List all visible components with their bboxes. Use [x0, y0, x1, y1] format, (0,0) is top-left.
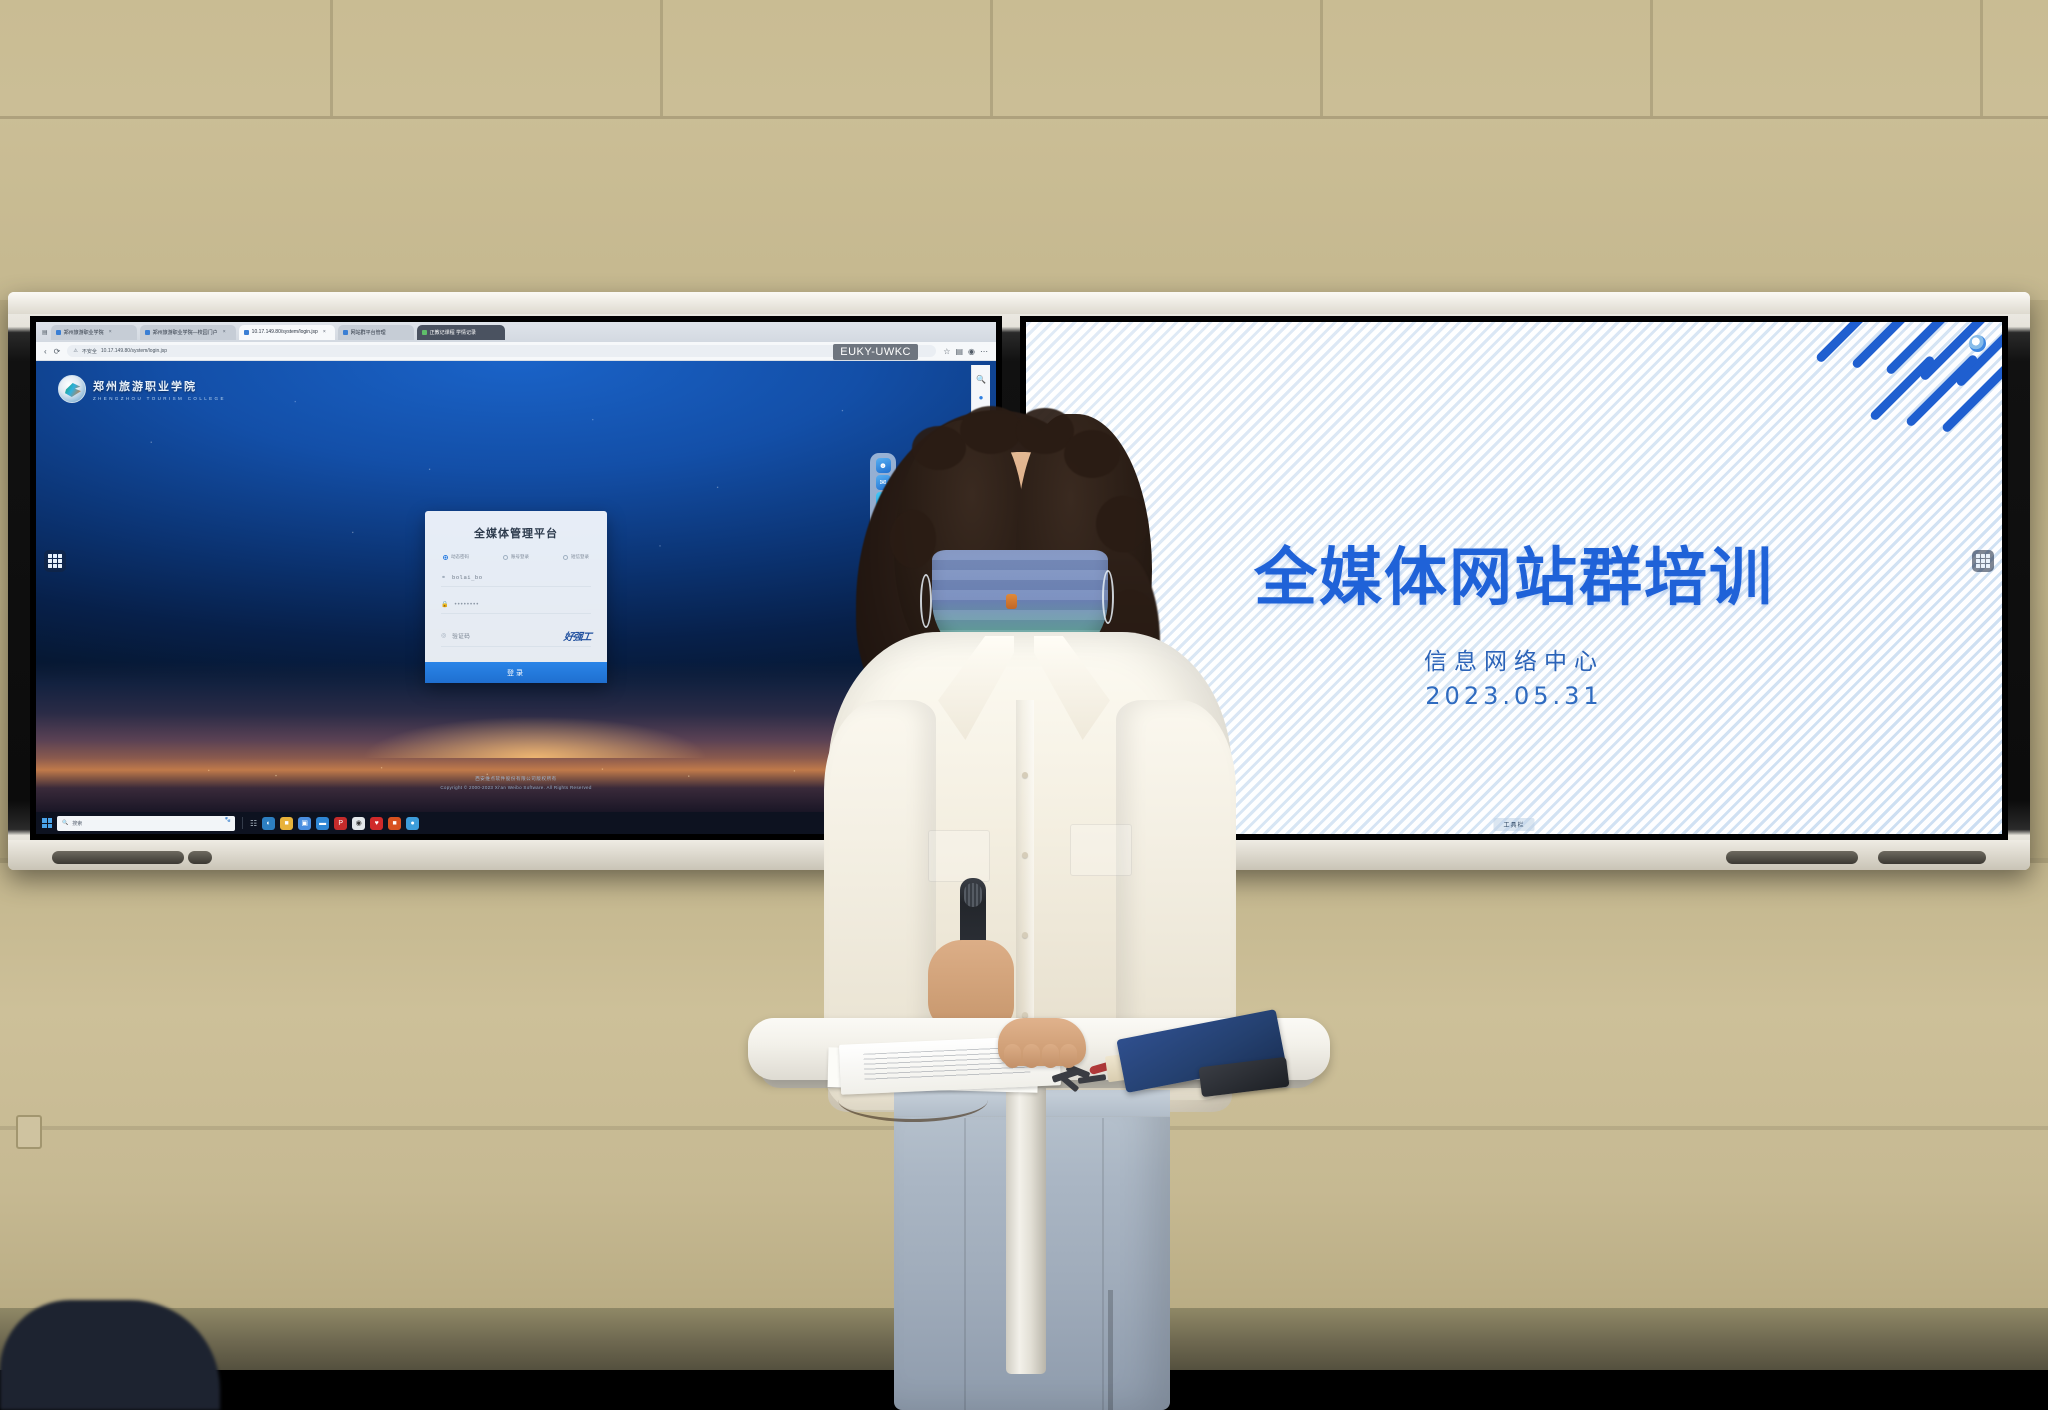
search-placeholder: 搜索 [72, 820, 82, 827]
hand-on-podium [998, 1018, 1086, 1066]
username-field[interactable]: ⚭ bolai_bo [441, 574, 591, 587]
wall-upper [0, 0, 2048, 300]
shield-icon: ◎ [441, 632, 446, 639]
mask-ear-loop [920, 574, 932, 628]
app-icon[interactable]: ● [406, 817, 419, 830]
mask-emblem-icon [1006, 594, 1017, 609]
college-name-en: ZHENGZHOU TOURISM COLLEGE [93, 396, 226, 401]
tab-close-icon[interactable]: × [323, 329, 326, 335]
url-omnibox[interactable]: ⚠ 不安全 10.17.149.80/system/login.jsp [67, 345, 936, 357]
radio-icon[interactable] [503, 555, 508, 560]
login-mode-label: 账号登录 [511, 554, 529, 560]
wall-outlet [16, 1115, 42, 1149]
tab-label: 正教记课程 学情记录 [430, 329, 476, 336]
podium-post [1006, 1084, 1046, 1374]
tab-label: 网站群平台管理 [351, 329, 386, 336]
more-settings-icon[interactable]: ⋯ [980, 347, 988, 356]
captcha-label: 验证码 [452, 632, 470, 640]
speaker-grille [1726, 851, 1858, 864]
bookmark-star-icon[interactable]: ☆ [943, 347, 950, 356]
radio-icon[interactable] [563, 555, 568, 560]
tab-favicon [343, 330, 348, 335]
browser-tab-highlighted[interactable]: 正教记课程 学情记录 [417, 325, 505, 340]
folder-icon[interactable]: ▬ [316, 817, 329, 830]
chrome-icon[interactable]: ◉ [352, 817, 365, 830]
login-button[interactable]: 登录 [425, 662, 607, 683]
browser-tab[interactable]: 郑州旅游职业学院 × [51, 325, 137, 340]
heart-icon[interactable]: ♥ [370, 817, 383, 830]
mask-ear-loop [1102, 570, 1114, 624]
search-decoration-icon: 🐾 [225, 817, 231, 823]
login-mode-group[interactable]: 动态密码 账号登录 短信登录 [441, 554, 591, 560]
security-label: 不安全 [82, 348, 97, 355]
speaker-grille [52, 851, 184, 864]
explorer-icon[interactable]: ■ [280, 817, 293, 830]
grid-handle-icon[interactable] [1972, 550, 1994, 572]
browser-tabstrip[interactable]: ▤ 郑州旅游职业学院 × 郑州旅游职业学院—校园门户 × 10.17.149.8… [36, 322, 996, 342]
reload-icon[interactable]: ⟳ [54, 347, 61, 356]
grid-handle-icon[interactable] [44, 550, 66, 572]
tab-list-icon[interactable]: ▤ [42, 329, 48, 336]
login-title: 全媒体管理平台 [441, 525, 591, 541]
bezel-top-trim [8, 292, 2030, 314]
login-mode-label: 短信登录 [571, 554, 589, 560]
lock-icon: 🔒 [441, 601, 448, 608]
tab-favicon [244, 330, 249, 335]
speaker-grille [188, 851, 212, 864]
cable [838, 1078, 988, 1122]
search-input[interactable]: 🔍 搜索 🐾 [57, 816, 235, 831]
windows-start-icon[interactable] [42, 818, 52, 828]
browser-tab-active[interactable]: 10.17.149.80/system/login.jsp × [239, 325, 335, 340]
diagonal-stripes-decoration [1762, 322, 2002, 492]
shirt-pocket [928, 830, 990, 882]
browser-tab[interactable]: 郑州旅游职业学院—校园门户 × [140, 325, 236, 340]
tab-close-icon[interactable]: × [109, 329, 112, 335]
tab-label: 10.17.149.80/system/login.jsp [252, 329, 318, 335]
login-mode-option[interactable]: 动态密码 [443, 554, 469, 560]
profile-icon[interactable]: ◉ [968, 347, 975, 356]
shirt-pocket [1070, 824, 1132, 876]
tab-label: 郑州旅游职业学院 [64, 329, 104, 336]
college-name-cn: 郑州旅游职业学院 [93, 378, 226, 394]
browser-tab[interactable]: 网站群平台管理 [338, 325, 414, 340]
screen-toolbar-label[interactable]: 工具栏 [1493, 818, 1534, 831]
office-icon[interactable]: ■ [388, 817, 401, 830]
podium [748, 1018, 1330, 1370]
college-emblem-icon [58, 375, 86, 403]
username-value: bolai_bo [452, 575, 483, 581]
user-icon: ⚭ [441, 574, 446, 581]
not-secure-icon: ⚠ [73, 348, 77, 354]
password-field[interactable]: 🔒 •••••••• [441, 601, 591, 614]
search-icon: 🔍 [62, 820, 68, 826]
radio-selected-icon[interactable] [443, 555, 448, 560]
device-name-label: EUKY-UWKC [833, 344, 918, 360]
pdf-icon[interactable]: P [334, 817, 347, 830]
slide-dot-icon [1969, 335, 1986, 352]
tab-favicon [145, 330, 150, 335]
search-icon[interactable]: 🔍 [976, 375, 986, 384]
captcha-field[interactable]: ◎ 验证码 好强工 [441, 628, 591, 647]
collections-icon[interactable]: ▤ [955, 347, 963, 356]
tab-label: 郑州旅游职业学院—校园门户 [153, 329, 218, 336]
back-arrow-icon[interactable]: ‹ [44, 347, 47, 356]
captcha-image[interactable]: 好强工 [563, 628, 592, 643]
password-value: •••••••• [454, 602, 479, 608]
edge-icon[interactable]: ◐ [262, 817, 275, 830]
speaker-grille [1878, 851, 1986, 864]
keys [1048, 1066, 1114, 1092]
login-mode-option[interactable]: 账号登录 [503, 554, 529, 560]
url-text: 10.17.149.80/system/login.jsp [101, 348, 167, 354]
widgets-icon[interactable]: ☷ [250, 819, 257, 828]
tab-favicon [56, 330, 61, 335]
store-icon[interactable]: ▣ [298, 817, 311, 830]
tab-favicon [422, 330, 427, 335]
login-mode-label: 动态密码 [451, 554, 469, 560]
login-card[interactable]: 全媒体管理平台 动态密码 账号登录 [425, 511, 607, 683]
login-mode-option[interactable]: 短信登录 [563, 554, 589, 560]
college-logo: 郑州旅游职业学院 ZHENGZHOU TOURISM COLLEGE [58, 375, 226, 403]
tab-close-icon[interactable]: × [223, 329, 226, 335]
